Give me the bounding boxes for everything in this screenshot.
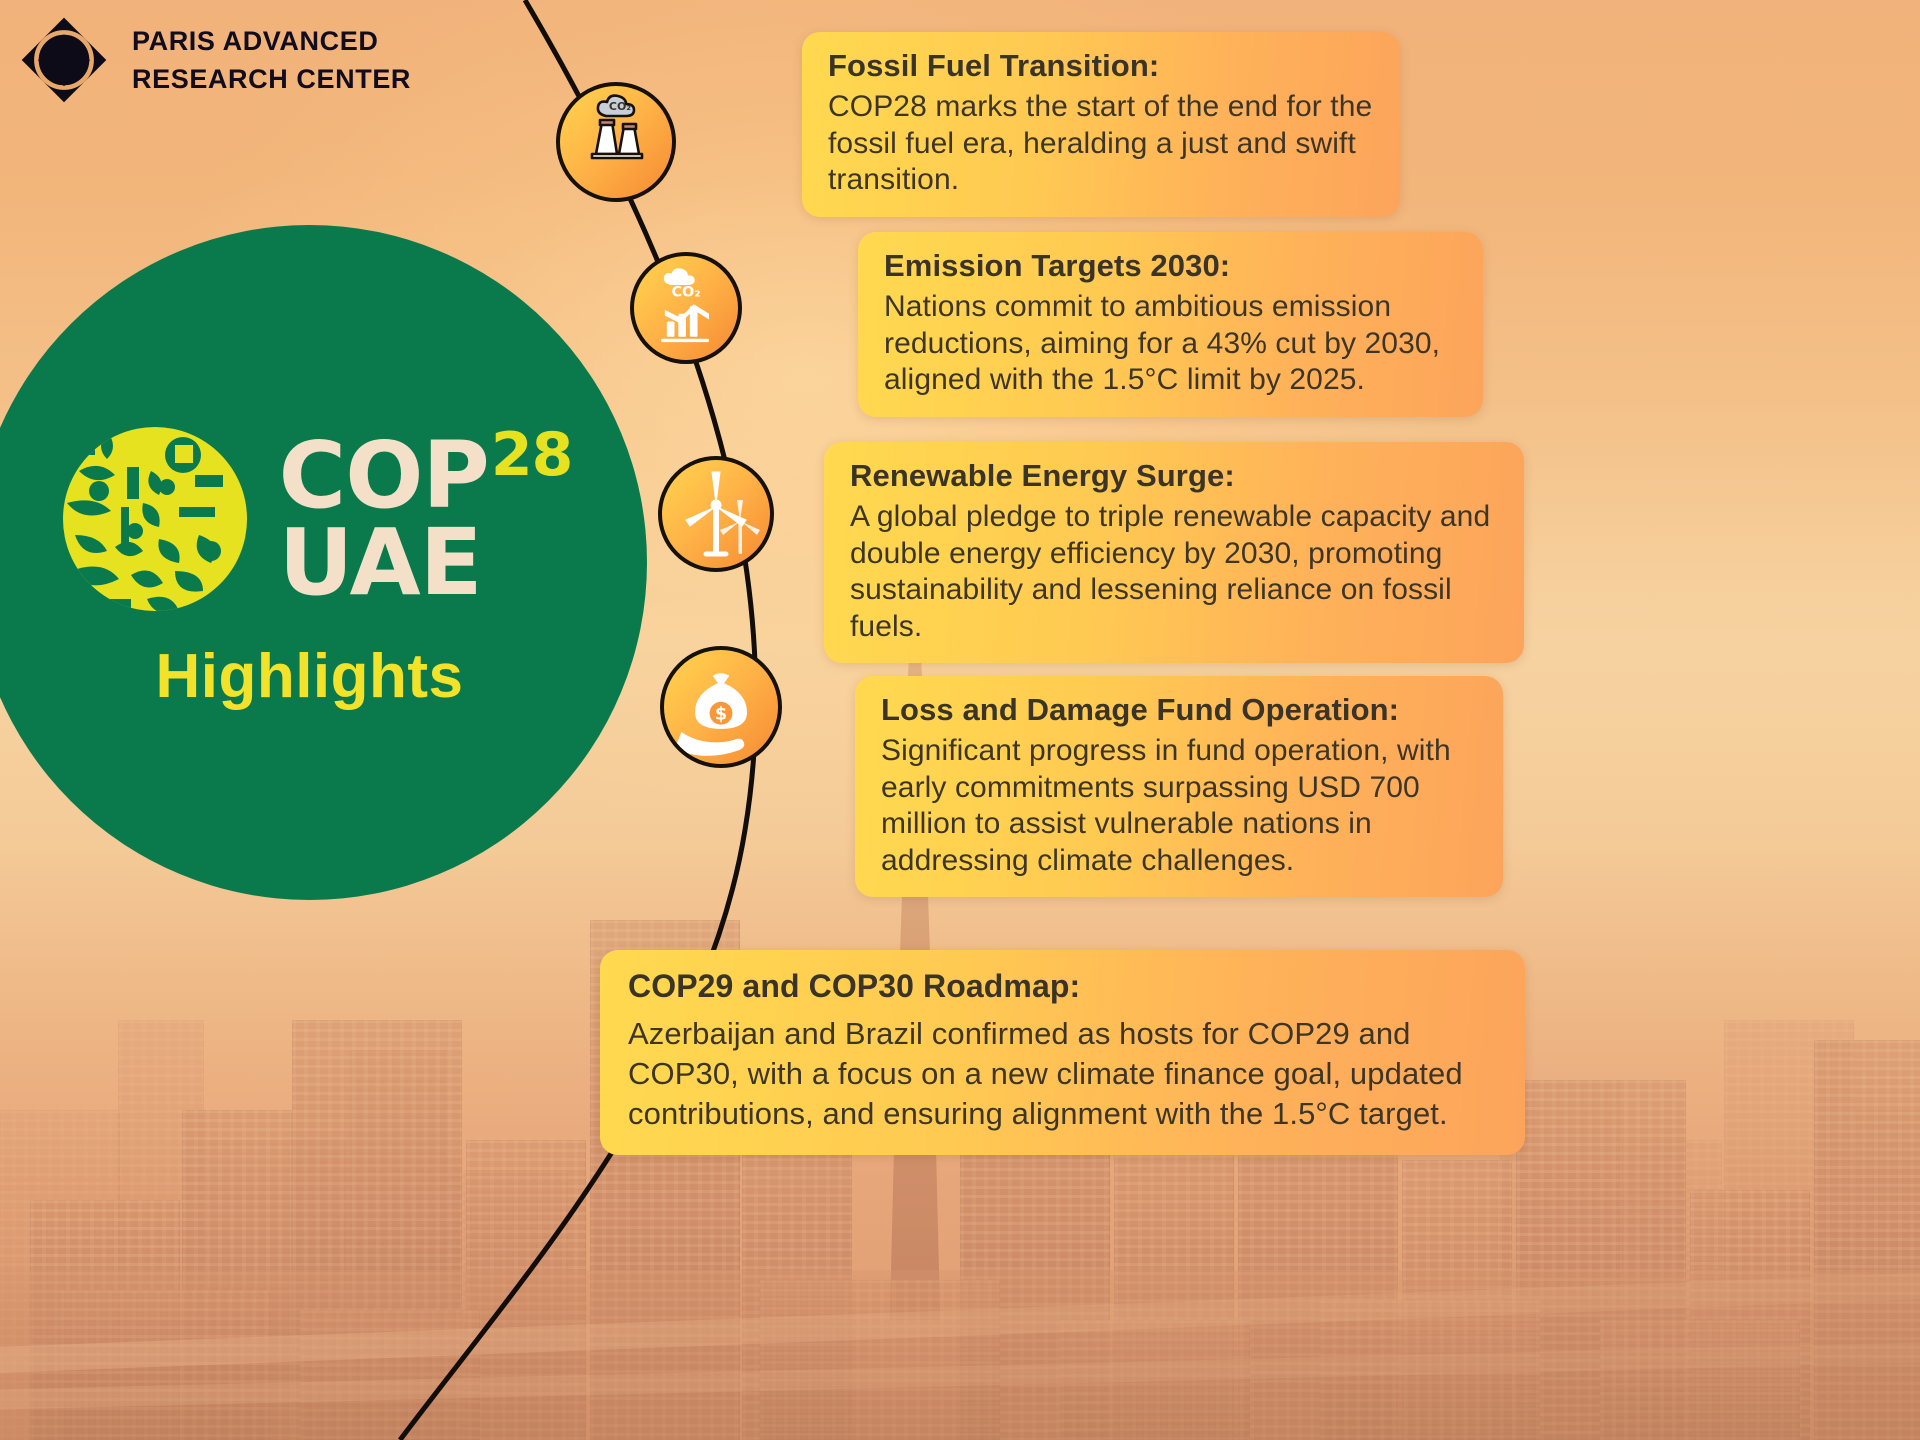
brand-line-2: RESEARCH CENTER xyxy=(132,60,411,98)
card-title: Loss and Damage Fund Operation: xyxy=(881,690,1477,729)
brand-logo: PARIS ADVANCED RESEARCH CENTER xyxy=(18,14,411,106)
card-title: Fossil Fuel Transition: xyxy=(828,46,1374,85)
svg-text:CO₂: CO₂ xyxy=(609,100,631,113)
cop-edition: 28 xyxy=(491,430,573,482)
card-body: A global pledge to triple renewable capa… xyxy=(850,499,1498,645)
co2-chart-decline-icon: CO₂ xyxy=(630,252,742,364)
cop-label: COP xyxy=(279,436,489,515)
brand-name: PARIS ADVANCED RESEARCH CENTER xyxy=(132,22,411,99)
money-bag-hand-icon: $ xyxy=(660,646,782,768)
cop28-title-line: COP 28 xyxy=(279,436,573,515)
cop28-lockup: COP 28 UAE xyxy=(55,419,573,619)
svg-text:$: $ xyxy=(715,704,727,724)
cop-country: UAE xyxy=(279,523,573,602)
infographic-canvas: PARIS ADVANCED RESEARCH CENTER xyxy=(0,0,1920,1440)
cop28-globe-icon xyxy=(55,419,255,619)
highlight-card-loss-and-damage-fund: Loss and Damage Fund Operation: Signific… xyxy=(855,676,1503,897)
co2-chart-glyph: CO₂ xyxy=(638,260,734,356)
card-body: COP28 marks the start of the end for the… xyxy=(828,89,1374,199)
wind-turbine-glyph xyxy=(666,464,766,564)
card-title: Emission Targets 2030: xyxy=(884,246,1457,285)
highlight-card-fossil-fuel-transition: Fossil Fuel Transition: COP28 marks the … xyxy=(802,32,1400,217)
brand-line-1: PARIS ADVANCED xyxy=(132,22,411,60)
highlights-title: Highlights xyxy=(155,641,463,712)
wind-turbine-icon xyxy=(658,456,774,572)
factory-co2-icon: CO₂ xyxy=(556,82,676,202)
highlight-card-emission-targets-2030: Emission Targets 2030: Nations commit to… xyxy=(858,232,1483,417)
cop28-logo-circle: COP 28 UAE Highlights xyxy=(0,225,647,900)
money-bag-glyph: $ xyxy=(669,655,773,759)
factory-co2-glyph: CO₂ xyxy=(566,92,666,192)
highlight-card-renewable-energy-surge: Renewable Energy Surge: A global pledge … xyxy=(824,442,1524,663)
card-title: Renewable Energy Surge: xyxy=(850,456,1498,495)
highlight-card-cop29-cop30-roadmap: COP29 and COP30 Roadmap: Azerbaijan and … xyxy=(600,950,1525,1155)
svg-text:CO₂: CO₂ xyxy=(671,284,700,300)
card-body: Nations commit to ambitious emission red… xyxy=(884,289,1457,399)
card-body: Azerbaijan and Brazil confirmed as hosts… xyxy=(628,1014,1497,1133)
diamond-circle-logo-icon xyxy=(18,14,110,106)
card-body: Significant progress in fund operation, … xyxy=(881,733,1477,879)
card-title: COP29 and COP30 Roadmap: xyxy=(628,966,1497,1006)
cop28-wordmark: COP 28 UAE xyxy=(279,436,573,602)
